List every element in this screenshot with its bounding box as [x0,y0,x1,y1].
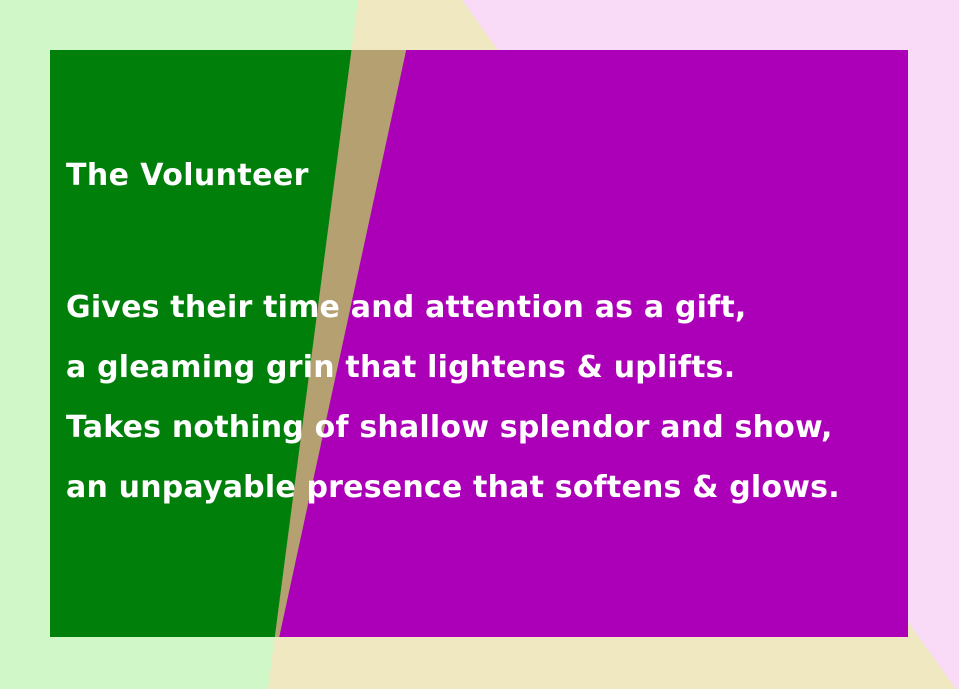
poem-body: Gives their time and attention as a gift… [66,278,926,518]
poem-line: Takes nothing of shallow splendor and sh… [66,398,926,458]
poem-line: Gives their time and attention as a gift… [66,278,926,338]
poem-line: a gleaming grin that lightens & uplifts. [66,338,926,398]
poem-line: an unpayable presence that softens & glo… [66,458,926,518]
poem-text-block: The Volunteer Gives their time and atten… [66,158,926,518]
poem-title: The Volunteer [66,158,926,194]
poem-poster: The Volunteer Gives their time and atten… [0,0,959,689]
